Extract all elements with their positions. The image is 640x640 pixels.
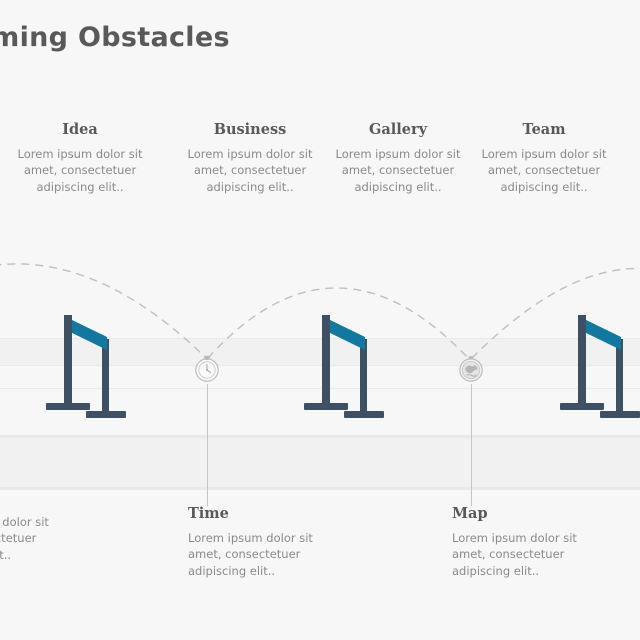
text-block-gallery: Gallery Lorem ipsum dolor sit amet, cons… (322, 122, 474, 195)
text-block-team: Team Lorem ipsum dolor sit amet, consect… (468, 122, 620, 195)
body-text: Lorem ipsum dolor sit amet, consectetuer… (468, 146, 620, 195)
body-text: Lorem ipsum dolor sit amet, consectetuer… (452, 530, 604, 579)
slide-canvas: coming Obstacles (0, 0, 640, 640)
stopwatch-icon[interactable] (192, 354, 222, 384)
node-connector-map (471, 384, 472, 506)
track-line (0, 487, 640, 490)
body-text: Lorem ipsum dolor sit amet, consectetuer… (4, 146, 156, 195)
globe-map-icon[interactable] (456, 354, 486, 384)
heading: Map (452, 506, 604, 522)
hurdle-foot-front (560, 403, 604, 410)
text-block-map: Map Lorem ipsum dolor sit amet, consecte… (452, 506, 604, 579)
hurdle-icon-3 (556, 307, 640, 419)
text-block-clipped-left: Lorem ipsum dolor sit amet, consectetuer… (0, 506, 76, 563)
heading: Idea (4, 122, 156, 138)
hurdle-crossbar (326, 318, 365, 350)
hurdle-post-front (578, 315, 586, 409)
hurdle-post-back (360, 339, 367, 417)
heading: Time (188, 506, 340, 522)
page-title: coming Obstacles (0, 22, 376, 53)
text-block-time: Time Lorem ipsum dolor sit amet, consect… (188, 506, 340, 579)
hurdle-crossbar (68, 318, 107, 350)
hurdle-post-front (64, 315, 72, 409)
hurdle-foot-back (86, 411, 126, 418)
hurdle-foot-front (46, 403, 90, 410)
hurdle-crossbar (582, 318, 621, 350)
hurdle-foot-front (304, 403, 348, 410)
hurdle-icon-1 (42, 307, 138, 419)
track-line (0, 435, 640, 438)
heading: Team (468, 122, 620, 138)
heading: Gallery (322, 122, 474, 138)
heading: Business (174, 122, 326, 138)
text-block-business: Business Lorem ipsum dolor sit amet, con… (174, 122, 326, 195)
hurdle-foot-back (344, 411, 384, 418)
text-block-idea: Idea Lorem ipsum dolor sit amet, consect… (4, 122, 156, 195)
body-text: Lorem ipsum dolor sit amet, consectetuer… (322, 146, 474, 195)
track-band (0, 438, 640, 487)
hurdle-post-back (616, 339, 623, 417)
node-connector-time (207, 384, 208, 506)
body-text: Lorem ipsum dolor sit amet, consectetuer… (0, 514, 76, 563)
hurdle-foot-back (600, 411, 640, 418)
hurdle-post-back (102, 339, 109, 417)
hurdle-post-front (322, 315, 330, 409)
hurdle-icon-2 (300, 307, 396, 419)
body-text: Lorem ipsum dolor sit amet, consectetuer… (188, 530, 340, 579)
body-text: Lorem ipsum dolor sit amet, consectetuer… (174, 146, 326, 195)
